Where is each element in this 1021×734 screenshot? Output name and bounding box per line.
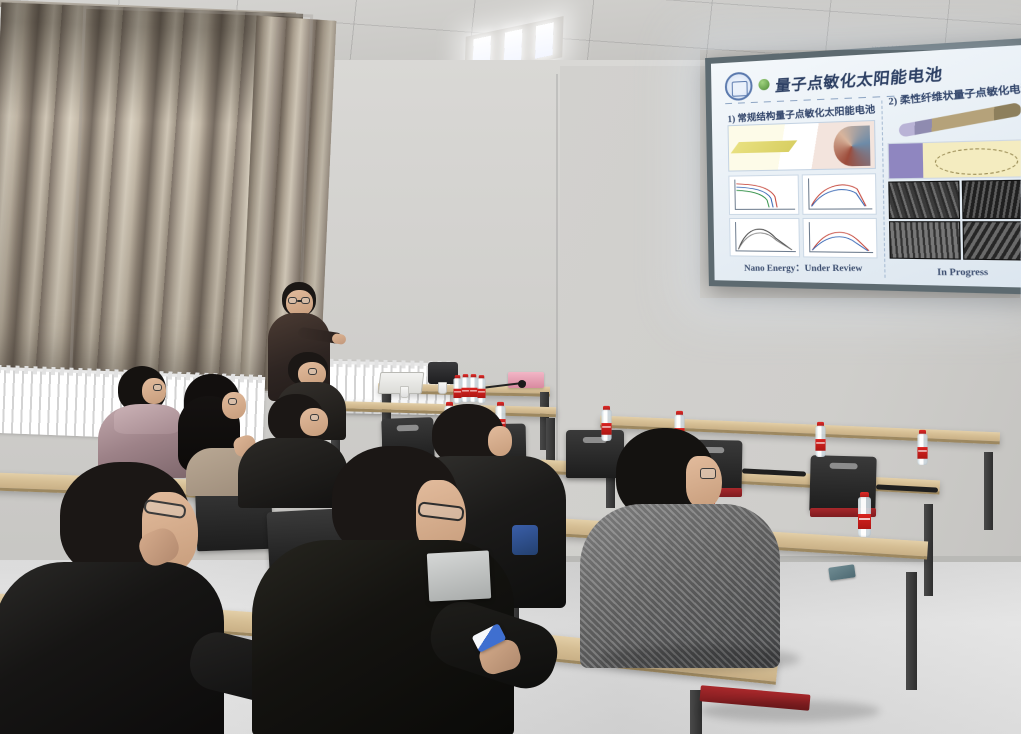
minichart-jv xyxy=(728,174,799,214)
fiber-schematic xyxy=(892,101,1021,139)
bullet-icon xyxy=(758,78,769,90)
laptop[interactable] xyxy=(427,550,491,601)
classroom-photo: ——能量转换材料与器件（量子点敏化电池） 量子点敏化太阳能电池 1) 常规结构量… xyxy=(0,0,1021,734)
device-schematic-figure xyxy=(728,120,877,172)
shadow xyxy=(600,646,800,672)
glasses-icon xyxy=(288,297,297,304)
knit-sweater xyxy=(580,504,780,668)
water-bottle[interactable] xyxy=(461,374,469,402)
water-bottle[interactable] xyxy=(815,422,825,457)
audience-man-glasses-chin xyxy=(0,462,284,734)
paper-cup xyxy=(400,386,409,398)
sem-image xyxy=(962,180,1021,219)
water-bottle[interactable] xyxy=(453,375,461,403)
water-bottle[interactable] xyxy=(858,492,871,537)
sem-image xyxy=(963,221,1021,261)
water-bottle[interactable] xyxy=(917,430,927,465)
paper-cup xyxy=(438,382,447,394)
slide-column-fiber: 2) 柔性纤维状量子点敏化电池 In Progres xyxy=(882,94,1021,282)
glasses-icon xyxy=(228,398,237,405)
shadow xyxy=(700,700,880,722)
torso xyxy=(0,562,224,734)
slide-body: 1) 常规结构量子点敏化太阳能电池 xyxy=(721,95,1019,281)
glasses-icon xyxy=(310,414,319,421)
audience-man-with-phone xyxy=(252,446,552,734)
glasses-bridge xyxy=(297,300,302,302)
slide-column-footer: In Progress xyxy=(886,266,1021,277)
fiber-cross-section xyxy=(888,139,1021,179)
slide-column-footer: Nano Energy：Under Review xyxy=(724,260,885,274)
sem-image xyxy=(889,221,961,260)
glasses-icon xyxy=(700,468,716,479)
table-leg xyxy=(906,572,917,690)
minichart-eis xyxy=(803,217,878,258)
projection-screen[interactable]: 量子点敏化太阳能电池 1) 常规结构量子点敏化太阳能电池 xyxy=(705,38,1021,295)
glasses-icon xyxy=(301,297,310,304)
water-bottle[interactable] xyxy=(477,375,485,403)
minichart-abs xyxy=(729,217,800,257)
water-bottle[interactable] xyxy=(469,374,477,402)
minichart-ipce xyxy=(802,173,877,214)
audience-person-grey-knit xyxy=(580,428,796,664)
glasses-icon xyxy=(308,368,317,375)
fiber-figure-group xyxy=(887,101,1021,261)
slide-column-conventional: 1) 常规结构量子点敏化太阳能电池 xyxy=(721,100,884,277)
university-seal-icon xyxy=(725,71,753,101)
face xyxy=(300,408,328,436)
table-leg xyxy=(984,452,993,530)
glasses-icon xyxy=(153,384,162,391)
sem-image-grid xyxy=(889,180,1021,261)
projected-slide: 量子点敏化太阳能电池 1) 常规结构量子点敏化太阳能电池 xyxy=(711,45,1021,288)
face xyxy=(142,378,166,404)
sem-image xyxy=(889,181,961,219)
face xyxy=(686,456,722,508)
minichart-grid xyxy=(728,173,878,258)
